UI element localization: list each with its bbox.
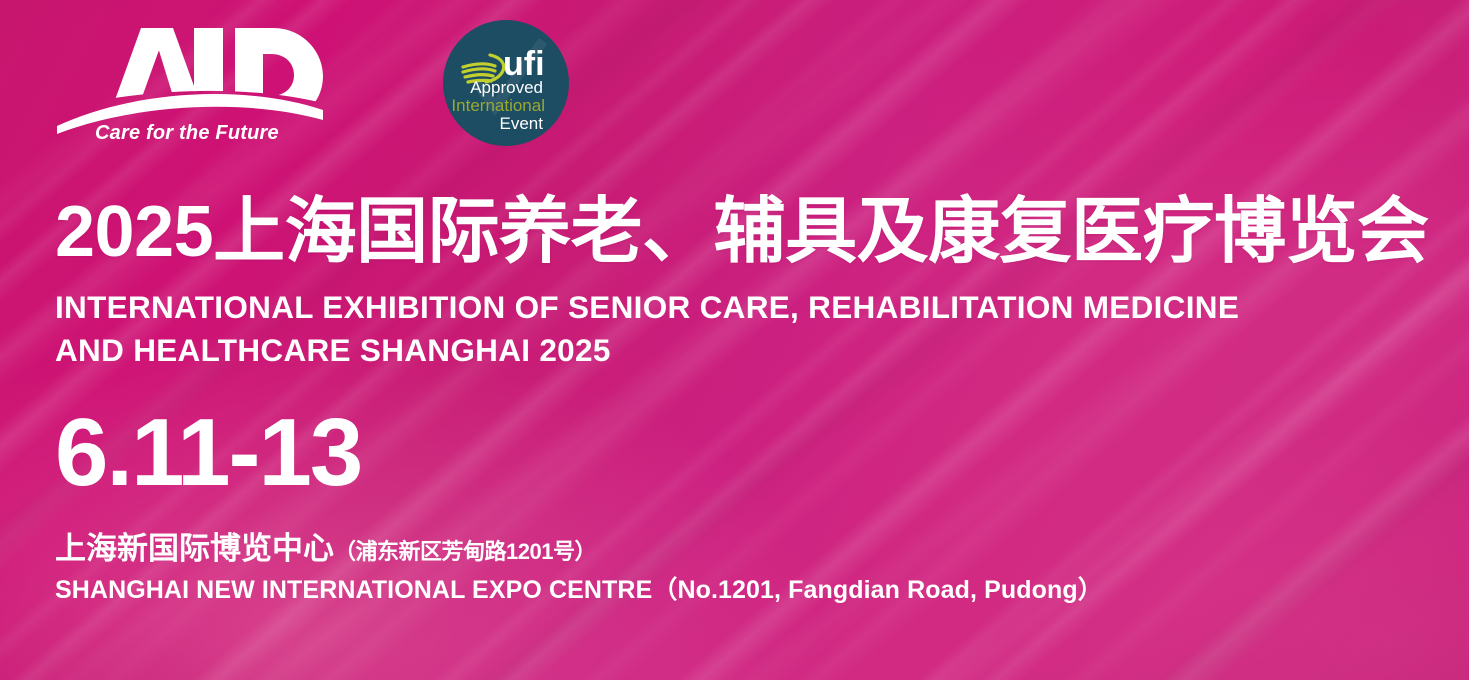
aid-logo: Care for the Future (55, 14, 325, 144)
venue-chinese-name: 上海新国际博览中心 (55, 531, 334, 567)
banner-header: Care for the Future ufi Approved Interna (55, 14, 569, 146)
venue-chinese: 上海新国际博览中心 （浦东新区芳甸路1201号） (55, 531, 1429, 567)
event-title-english-line2: AND HEALTHCARE SHANGHAI 2025 (55, 329, 1429, 372)
venue-chinese-address: （浦东新区芳甸路1201号） (334, 539, 596, 564)
venue-english: SHANGHAI NEW INTERNATIONAL EXPO CENTRE（N… (55, 576, 1429, 605)
event-title-english-line1: INTERNATIONAL EXHIBITION OF SENIOR CARE,… (55, 286, 1429, 329)
ufi-label-approved: Approved (470, 78, 543, 97)
event-title-english: INTERNATIONAL EXHIBITION OF SENIOR CARE,… (55, 286, 1429, 373)
ufi-label-international: International (451, 96, 545, 115)
event-dates: 6.11-13 (55, 409, 1429, 497)
banner-content: 2025上海国际养老、辅具及康复医疗博览会 INTERNATIONAL EXHI… (55, 196, 1429, 605)
event-banner: Care for the Future ufi Approved Interna (0, 0, 1469, 680)
ufi-approved-event-badge: ufi Approved International Event (443, 20, 569, 146)
ufi-label-event: Event (500, 114, 544, 133)
event-title-chinese: 2025上海国际养老、辅具及康复医疗博览会 (55, 196, 1429, 268)
aid-tagline: Care for the Future (95, 122, 279, 145)
